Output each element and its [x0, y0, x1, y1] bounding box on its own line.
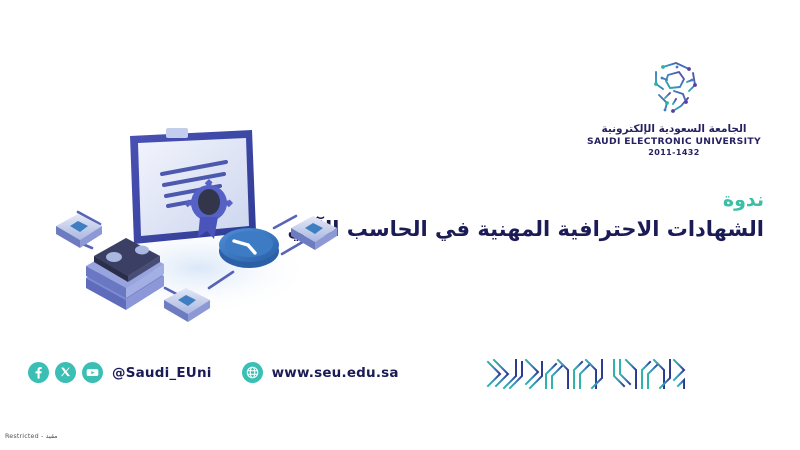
x-twitter-icon[interactable] — [55, 362, 76, 383]
website-url[interactable]: www.seu.edu.sa — [272, 365, 399, 381]
presentation-slide: الجامعة السعودية الإلكترونية SAUDI ELECT… — [0, 0, 800, 450]
social-icon-group — [28, 362, 103, 383]
facebook-icon[interactable] — [28, 362, 49, 383]
logo-year: 2011-1432 — [648, 147, 699, 158]
website-group: www.seu.edu.sa — [242, 362, 399, 383]
logo-english-name: SAUDI ELECTRONIC UNIVERSITY — [587, 136, 761, 148]
footer-contact-bar: @Saudi_EUni www.seu.edu.sa — [28, 362, 399, 383]
seu-hexagon-circuit-emblem — [643, 58, 705, 118]
isometric-certificate-network-illustration — [34, 128, 364, 333]
network-node-left — [56, 214, 102, 248]
logo-arabic-name: الجامعة السعودية الإلكترونية — [601, 124, 746, 136]
youtube-icon[interactable] — [82, 362, 103, 383]
globe-icon[interactable] — [242, 362, 263, 383]
circuit-pattern-band — [486, 356, 686, 392]
social-handle: @Saudi_EUni — [112, 365, 212, 381]
university-logo: الجامعة السعودية الإلكترونية SAUDI ELECT… — [584, 58, 764, 158]
classification-label: Restricted - مقيد — [5, 432, 58, 440]
